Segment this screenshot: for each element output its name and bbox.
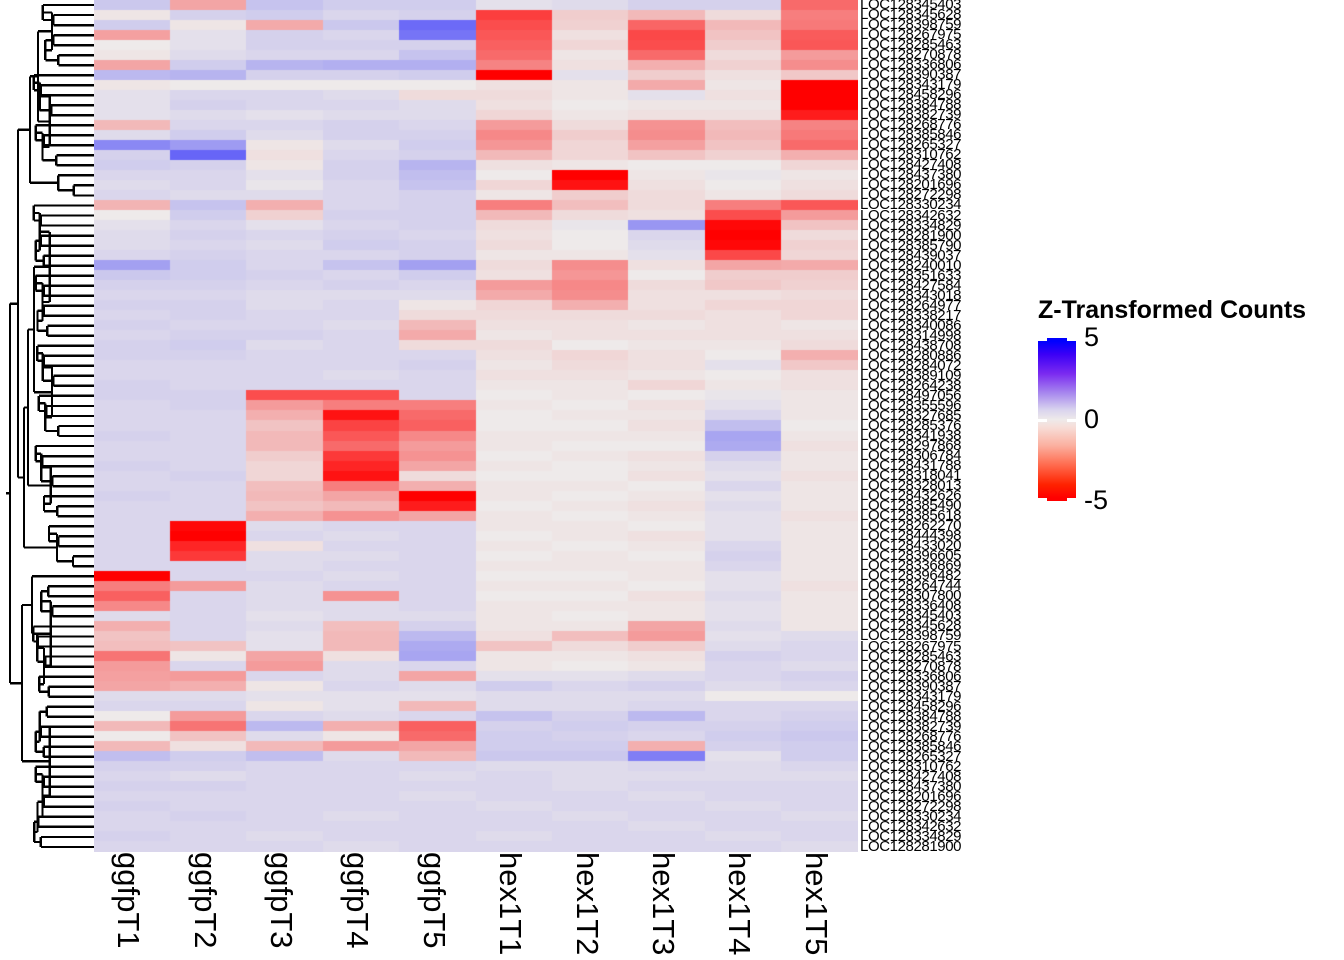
heatmap-grid[interactable] [94,0,858,852]
column-label-ggfpT1: ggfpT1 [68,852,144,960]
column-label-hex1T4: hex1T4 [679,852,755,960]
legend-tick-label: -5 [1084,487,1108,514]
column-label-ggfpT4: ggfpT4 [297,852,373,960]
legend-tick-label: 5 [1084,324,1099,351]
row-label: LOC128281900 [860,839,961,854]
row-labels: LOC128345403LOC128345628LOC128398759LOC1… [860,0,1040,858]
column-label-hex1T1: hex1T1 [450,852,526,960]
legend: Z-Transformed Counts 50-5 [1038,296,1338,516]
column-label-hex1T5: hex1T5 [756,852,832,960]
legend-tick-mark [1038,419,1076,422]
column-label-ggfpT5: ggfpT5 [374,852,450,960]
column-labels: ggfpT1ggfpT2ggfpT3ggfpT4ggfpT5hex1T1hex1… [94,852,858,960]
legend-title: Z-Transformed Counts [1038,296,1306,325]
column-label-hex1T3: hex1T3 [603,852,679,960]
column-label-ggfpT3: ggfpT3 [221,852,297,960]
legend-tick-mark [1038,338,1076,341]
legend-tick-mark [1038,498,1076,501]
heatmap-figure: LOC128345403LOC128345628LOC128398759LOC1… [0,0,1344,960]
dendrogram-svg [0,0,94,852]
heatmap-canvas[interactable] [94,0,858,852]
column-label-ggfpT2: ggfpT2 [145,852,221,960]
column-label-hex1T2: hex1T2 [527,852,603,960]
legend-tick-label: 0 [1084,406,1099,433]
row-dendrogram [0,0,94,852]
